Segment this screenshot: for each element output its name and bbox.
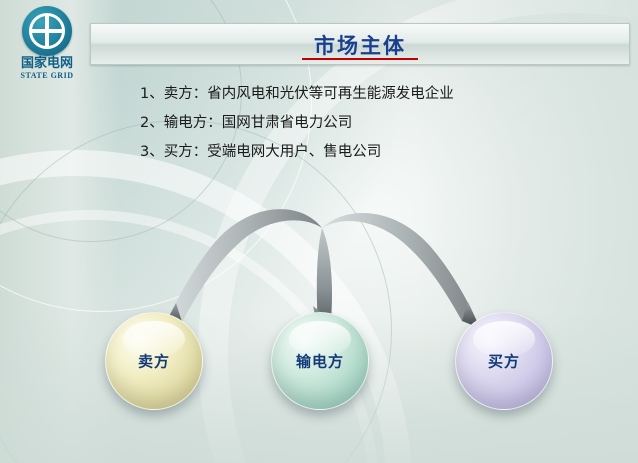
state-grid-emblem-icon <box>22 6 72 56</box>
node-transmitter-label: 输电方 <box>272 351 368 372</box>
arc-left <box>163 209 322 328</box>
arc-right <box>322 213 480 328</box>
node-seller[interactable]: 卖方 <box>105 312 203 410</box>
page-title: 市场主体 <box>91 30 629 60</box>
slide-title-bar: 市场主体 <box>90 23 630 65</box>
node-transmitter[interactable]: 输电方 <box>271 312 369 410</box>
logo-name-cn: 国家电网 <box>8 57 86 71</box>
node-seller-label: 卖方 <box>106 351 202 372</box>
node-buyer[interactable]: 买方 <box>455 312 553 410</box>
state-grid-logo: 国家电网 STATE GRID <box>8 6 86 76</box>
slide-canvas: 国家电网 STATE GRID 市场主体 1、卖方：省内风电和光伏等可再生能源发… <box>0 0 638 463</box>
title-underline <box>302 58 418 60</box>
list-item: 2、输电方：国网甘肃省电力公司 <box>140 109 580 138</box>
node-buyer-label: 买方 <box>456 351 552 372</box>
list-item: 1、卖方：省内风电和光伏等可再生能源发电企业 <box>140 80 580 109</box>
logo-name-en: STATE GRID <box>8 71 86 80</box>
